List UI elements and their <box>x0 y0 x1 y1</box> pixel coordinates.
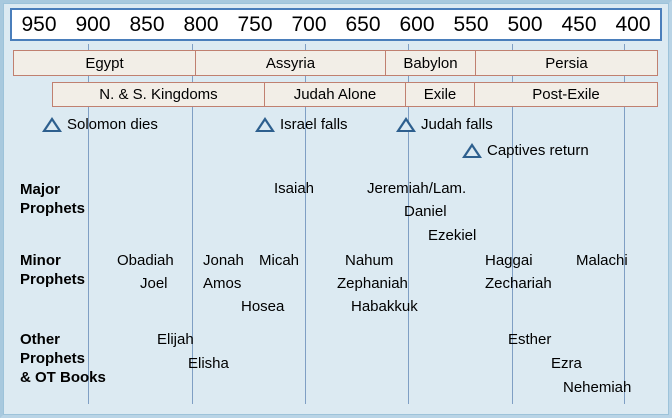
tick-label: 400 <box>606 14 660 35</box>
tick-label: 600 <box>390 14 444 35</box>
tick-label: 500 <box>498 14 552 35</box>
event-israel-falls: Israel falls <box>255 116 348 133</box>
entry-esther: Esther <box>508 332 551 347</box>
row-heading-other-prophets: Other Prophets & OT Books <box>20 330 106 387</box>
entry-joel: Joel <box>140 276 168 291</box>
entry-hosea: Hosea <box>241 299 284 314</box>
row-heading-line: Major <box>20 180 85 199</box>
tick-label: 700 <box>282 14 336 35</box>
row-heading-line: Minor <box>20 251 85 270</box>
tick-label: 650 <box>336 14 390 35</box>
empire-band-babylon: Babylon <box>385 50 476 76</box>
tick-label: 550 <box>444 14 498 35</box>
entry-isaiah: Isaiah <box>274 181 314 196</box>
entry-jonah: Jonah <box>203 253 244 268</box>
tick-label: 900 <box>66 14 120 35</box>
entry-haggai: Haggai <box>485 253 533 268</box>
period-band-kingdoms: N. & S. Kingdoms <box>52 82 265 107</box>
entry-zephaniah: Zephaniah <box>337 276 408 291</box>
entry-habakkuk: Habakkuk <box>351 299 418 314</box>
entry-jeremiah-lam: Jeremiah/Lam. <box>367 181 466 196</box>
row-heading-line: Prophets <box>20 349 106 368</box>
row-heading-major-prophets: Major Prophets <box>20 180 85 218</box>
event-judah-falls: Judah falls <box>396 116 493 133</box>
triangle-marker-icon <box>255 117 275 132</box>
empire-band-assyria: Assyria <box>195 50 386 76</box>
entry-elijah: Elijah <box>157 332 194 347</box>
event-label: Judah falls <box>421 116 493 133</box>
event-solomon-dies: Solomon dies <box>42 116 158 133</box>
period-band-judah-alone: Judah Alone <box>264 82 406 107</box>
triangle-marker-icon <box>42 117 62 132</box>
tick-label: 750 <box>228 14 282 35</box>
entry-ezra: Ezra <box>551 356 582 371</box>
entry-obadiah: Obadiah <box>117 253 174 268</box>
triangle-marker-icon <box>462 143 482 158</box>
entry-micah: Micah <box>259 253 299 268</box>
empire-band-persia: Persia <box>475 50 658 76</box>
tick-label: 950 <box>12 14 66 35</box>
entry-zechariah: Zechariah <box>485 276 552 291</box>
entry-amos: Amos <box>203 276 241 291</box>
event-label: Israel falls <box>280 116 348 133</box>
tick-label: 800 <box>174 14 228 35</box>
row-heading-line: Other <box>20 330 106 349</box>
prophets-timeline-chart: 950 900 850 800 750 700 650 600 550 500 … <box>0 0 672 418</box>
entry-nehemiah: Nehemiah <box>563 380 631 395</box>
entry-nahum: Nahum <box>345 253 393 268</box>
entry-ezekiel: Ezekiel <box>428 228 476 243</box>
event-label: Captives return <box>487 142 589 159</box>
row-heading-line: Prophets <box>20 199 85 218</box>
timeline-scale: 950 900 850 800 750 700 650 600 550 500 … <box>10 8 662 41</box>
period-band-post-exile: Post-Exile <box>474 82 658 107</box>
entry-daniel: Daniel <box>404 204 447 219</box>
empire-band-egypt: Egypt <box>13 50 196 76</box>
tick-label: 450 <box>552 14 606 35</box>
entry-elisha: Elisha <box>188 356 229 371</box>
tick-label: 850 <box>120 14 174 35</box>
period-band-exile: Exile <box>405 82 475 107</box>
row-heading-line: Prophets <box>20 270 85 289</box>
event-captives-return: Captives return <box>462 142 589 159</box>
row-heading-line: & OT Books <box>20 368 106 387</box>
entry-malachi: Malachi <box>576 253 628 268</box>
triangle-marker-icon <box>396 117 416 132</box>
row-heading-minor-prophets: Minor Prophets <box>20 251 85 289</box>
event-label: Solomon dies <box>67 116 158 133</box>
